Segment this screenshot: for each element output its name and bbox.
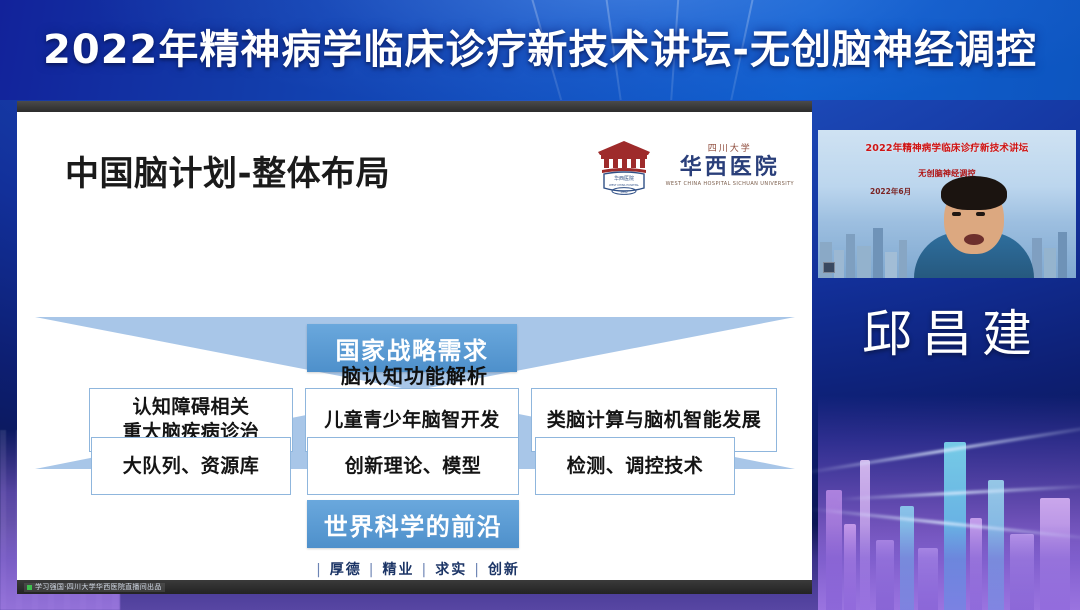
video-bg-date: 2022年6月 [870, 186, 911, 197]
speaker-figure [914, 172, 1034, 278]
box-bottom-2: 创新理论、模型 [307, 437, 519, 495]
speaker-eye-left [952, 212, 961, 216]
motto-item-0: 厚德 [330, 562, 362, 578]
speaker-hair [941, 176, 1007, 210]
page-title: 2022年精神病学临床诊疗新技术讲坛-无创脑神经调控 [0, 22, 1080, 78]
motto-separator-0: | [309, 562, 330, 578]
box-world-frontier: 世界科学的前沿 [307, 500, 519, 548]
motto-item-2: 求实 [435, 562, 467, 578]
video-bg-title: 2022年精神病学临床诊疗新技术讲坛 [818, 142, 1076, 155]
video-corner-badge-icon [823, 262, 835, 273]
speaker-name: 邱昌建 [852, 294, 1042, 366]
brain-project-diagram: 国家战略需求 认知障碍相关 重大脑疾病诊治 儿童青少年脑智开发 类脑计算与脑机智… [17, 112, 812, 580]
shared-screen-topbar [17, 101, 812, 112]
speaker-eye-right [976, 212, 985, 216]
motto-separator-2: | [415, 562, 436, 578]
motto-item-1: 精业 [383, 562, 415, 578]
motto-separator-3: | [467, 562, 488, 578]
presentation-slide: 中国脑计划-整体布局 华西医院 WEST CHINA HOSPITAL [17, 112, 812, 580]
speaker-nameplate: 邱昌建 [818, 278, 1076, 382]
label-brain-cognition: 脑认知功能解析 [17, 360, 812, 389]
speaker-video-tile[interactable]: 2022年精神病学临床诊疗新技术讲坛 无创脑神经调控 2022年6月 [818, 130, 1076, 278]
box-bottom-1: 大队列、资源库 [91, 437, 291, 495]
box-bottom-3: 检测、调控技术 [535, 437, 735, 495]
webinar-screen: 2022年精神病学临床诊疗新技术讲坛-无创脑神经调控 学习强国·四川大学华西医院… [0, 0, 1080, 610]
motto-item-3: 创新 [488, 562, 520, 578]
motto-separator-1: | [362, 562, 383, 578]
header-banner: 2022年精神病学临床诊疗新技术讲坛-无创脑神经调控 [0, 0, 1080, 100]
speaker-mouth [964, 234, 984, 245]
watermark-dot-icon [27, 585, 32, 590]
motto-line: |厚德|精业|求实|创新 [17, 559, 812, 579]
watermark-text: 学习强国·四川大学华西医院直播间出品 [35, 583, 162, 591]
watermark-label: 学习强国·四川大学华西医院直播间出品 [24, 583, 165, 592]
box-top-1-line1: 认知障碍相关 [132, 396, 249, 418]
